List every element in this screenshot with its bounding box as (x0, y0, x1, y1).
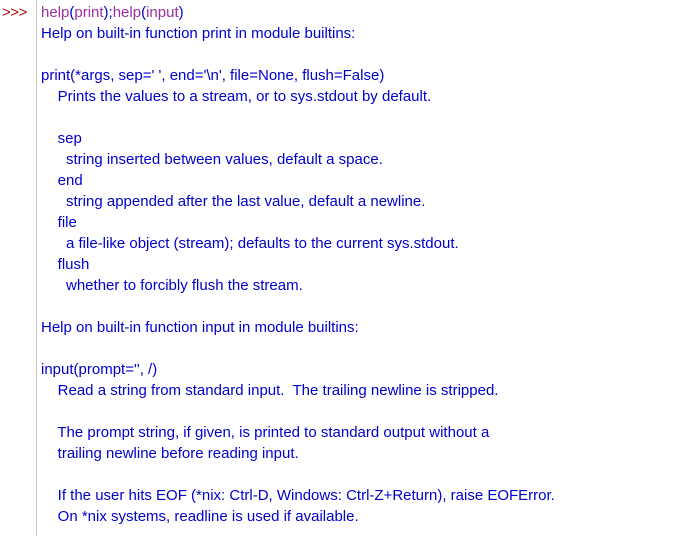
output-line: trailing newline before reading input. (0, 443, 697, 464)
output-blank-line (0, 401, 697, 422)
output-blank-line (0, 44, 697, 65)
output-line: string appended after the last value, de… (0, 191, 697, 212)
output-blank-line (0, 338, 697, 359)
output-line: whether to forcibly flush the stream. (0, 275, 697, 296)
shell-output-area[interactable]: >>>help(print);help(input)Help on built-… (0, 2, 697, 527)
output-line: flush (0, 254, 697, 275)
output-line: Read a string from standard input. The t… (0, 380, 697, 401)
output-line: string inserted between values, default … (0, 149, 697, 170)
python-shell-window[interactable]: >>>help(print);help(input)Help on built-… (0, 0, 697, 536)
output-blank-line (0, 107, 697, 128)
output-line: The prompt string, if given, is printed … (0, 422, 697, 443)
code-token-punct: ) (179, 4, 184, 21)
code-token-builtin: help (41, 4, 69, 21)
shell-prompt: >>> (2, 2, 34, 23)
shell-input-line[interactable]: >>>help(print);help(input) (0, 2, 697, 23)
output-line: If the user hits EOF (*nix: Ctrl-D, Wind… (0, 485, 697, 506)
code-token-builtin: print (74, 4, 103, 21)
shell-input-code: help(print);help(input) (41, 4, 184, 21)
output-line: end (0, 170, 697, 191)
code-token-builtin: help (113, 4, 141, 21)
code-token-builtin: input (146, 4, 179, 21)
output-line: sep (0, 128, 697, 149)
output-line: Prints the values to a stream, or to sys… (0, 86, 697, 107)
output-blank-line (0, 464, 697, 485)
output-line: print(*args, sep=' ', end='\n', file=Non… (0, 65, 697, 86)
output-line: file (0, 212, 697, 233)
output-line: a file-like object (stream); defaults to… (0, 233, 697, 254)
output-line: On *nix systems, readline is used if ava… (0, 506, 697, 527)
output-line: Help on built-in function input in modul… (0, 317, 697, 338)
output-line: Help on built-in function print in modul… (0, 23, 697, 44)
output-blank-line (0, 296, 697, 317)
output-line: input(prompt='', /) (0, 359, 697, 380)
code-token-punct: ); (104, 4, 113, 21)
